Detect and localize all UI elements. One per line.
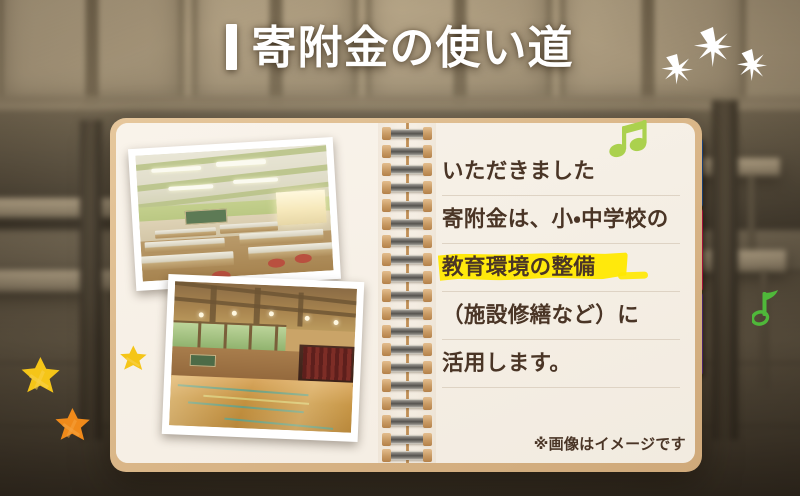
text-line: 寄附金は、小・中学校の — [442, 196, 680, 244]
poster-canvas: 寄附金の使い道 — [0, 0, 800, 496]
highlighter-stroke-tail — [618, 271, 648, 279]
binding-ring — [385, 291, 429, 300]
binding-ring — [385, 327, 429, 336]
text-line: （施設修繕など）に — [442, 292, 680, 340]
binding-ring — [385, 273, 429, 282]
title-text: 寄附金の使い道 — [251, 25, 573, 70]
binding-ring — [385, 201, 429, 210]
binding-ring — [385, 255, 429, 264]
photo-gym — [162, 274, 365, 442]
notebook: いただきました 寄附金は、小・中学校の 教育環境の整備 （施設修繕など）に 活用… — [110, 118, 702, 472]
title-accent-bar — [226, 24, 237, 70]
binding-ring — [385, 451, 429, 460]
binding-ring — [385, 183, 429, 192]
image-disclaimer-caption: ※画像はイメージです — [534, 433, 686, 454]
text-line-highlighted: 教育環境の整備 — [442, 244, 680, 292]
text-line-content: いただきました — [442, 161, 595, 183]
binding-ring — [385, 129, 429, 138]
page-title: 寄附金の使い道 — [0, 24, 800, 70]
spiral-binding — [378, 123, 436, 463]
binding-ring — [385, 417, 429, 426]
text-line: 活用します。 — [442, 340, 680, 388]
text-line-content: 活用します。 — [442, 353, 571, 375]
text-line: いただきました — [442, 148, 680, 196]
binding-ring — [385, 399, 429, 408]
binding-ring — [385, 363, 429, 372]
photo-classroom — [128, 137, 341, 291]
text-line-content: 寄附金は、小・中学校の — [442, 209, 669, 231]
binding-ring — [385, 309, 429, 318]
binding-ring — [385, 147, 429, 156]
binding-ring — [385, 435, 429, 444]
binding-ring — [385, 381, 429, 390]
binding-ring — [385, 219, 429, 228]
binding-ring — [385, 237, 429, 246]
notebook-text-body: いただきました 寄附金は、小・中学校の 教育環境の整備 （施設修繕など）に 活用… — [442, 148, 680, 388]
binding-ring — [385, 345, 429, 354]
text-line-content: （施設修繕など）に — [442, 305, 639, 327]
text-line-content: 教育環境の整備 — [442, 257, 595, 279]
binding-ring — [385, 165, 429, 174]
